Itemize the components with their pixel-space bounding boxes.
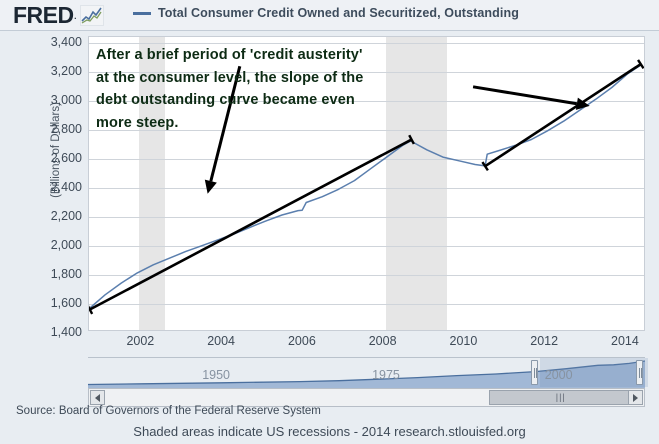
- annotation-line-2: at the consumer level, the slope of the: [96, 67, 496, 90]
- range-navigator[interactable]: 1950 1975 2000: [88, 357, 645, 388]
- navigator-year-label: 2000: [545, 368, 573, 382]
- y-tick: 3,000: [36, 93, 82, 107]
- source-text: Source: Board of Governors of the Federa…: [16, 405, 321, 417]
- y-tick: 2,600: [36, 151, 82, 165]
- scroll-right-button[interactable]: [628, 390, 643, 405]
- sparkline-icon: [80, 5, 104, 26]
- y-axis-ticks: 3,400 3,200 3,000 2,800 2,600 2,400 2,20…: [30, 36, 82, 331]
- x-tick: 2012: [530, 334, 558, 348]
- navigator-year-label: 1950: [202, 368, 230, 382]
- scroll-left-button[interactable]: [90, 390, 105, 405]
- chevron-right-icon: [633, 394, 638, 402]
- y-tick: 1,400: [36, 325, 82, 339]
- legend: Total Consumer Credit Owned and Securiti…: [133, 6, 519, 20]
- annotation-arrow-left-head: [205, 180, 217, 194]
- fred-logo-dot: .: [74, 8, 77, 22]
- y-tick: 3,200: [36, 64, 82, 78]
- y-tick: 2,400: [36, 180, 82, 194]
- header-divider: [0, 30, 659, 31]
- navigator-handle-right[interactable]: [636, 360, 643, 385]
- legend-label: Total Consumer Credit Owned and Securiti…: [158, 6, 519, 20]
- x-tick: 2002: [126, 334, 154, 348]
- trend-1: [90, 140, 412, 310]
- header-bar: FRED . Total Consumer Credit Owned and S…: [0, 0, 659, 31]
- y-tick: 1,600: [36, 296, 82, 310]
- annotation-line-4: more steep.: [96, 112, 496, 135]
- x-axis-ticks: 2002 2004 2006 2008 2010 2012 2014: [88, 334, 645, 352]
- y-tick: 2,200: [36, 209, 82, 223]
- x-tick: 2014: [611, 334, 639, 348]
- navigator-year-label: 1975: [372, 368, 400, 382]
- fred-logo[interactable]: FRED .: [13, 3, 104, 27]
- y-tick: 2,800: [36, 122, 82, 136]
- x-tick: 2010: [450, 334, 478, 348]
- chart-annotation: After a brief period of 'credit austerit…: [96, 44, 496, 134]
- annotation-line-1: After a brief period of 'credit austerit…: [96, 44, 496, 67]
- navigator-handle-left[interactable]: [531, 360, 538, 385]
- scrollbar-thumb[interactable]: |||: [489, 390, 633, 405]
- grip-icon: |||: [556, 393, 566, 402]
- annotation-line-3: debt outstanding curve became even: [96, 89, 496, 112]
- y-tick: 2,000: [36, 238, 82, 252]
- fred-chart-page: FRED . Total Consumer Credit Owned and S…: [0, 0, 659, 444]
- chevron-left-icon: [95, 394, 100, 402]
- trend-2: [485, 64, 641, 166]
- y-tick: 3,400: [36, 35, 82, 49]
- x-tick: 2006: [288, 334, 316, 348]
- footer-note: Shaded areas indicate US recessions - 20…: [0, 424, 659, 439]
- x-tick: 2008: [369, 334, 397, 348]
- legend-color-swatch: [133, 12, 151, 15]
- fred-logo-text: FRED: [13, 4, 74, 27]
- y-tick: 1,800: [36, 267, 82, 281]
- x-tick: 2004: [207, 334, 235, 348]
